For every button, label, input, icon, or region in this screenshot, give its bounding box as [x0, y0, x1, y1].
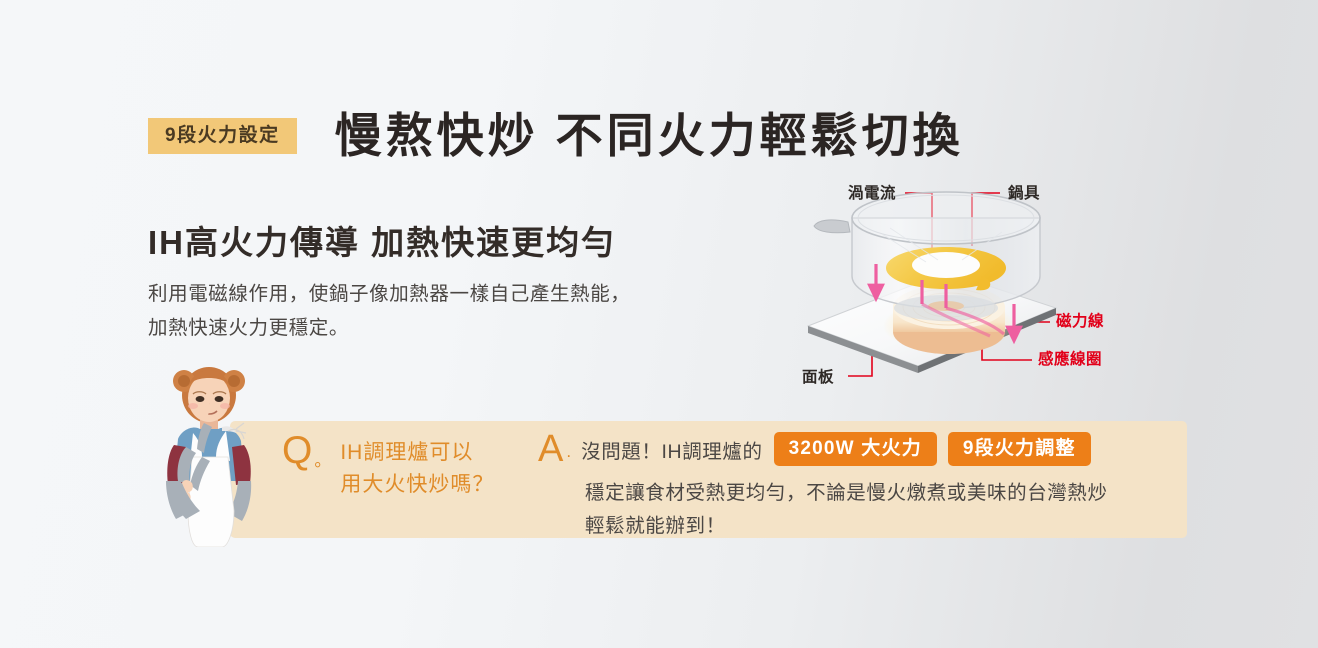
qa-question: Q 。 IH調理爐可以 用大火快炒嗎？ [282, 432, 494, 501]
body-line-1: 利用電磁線作用，使鍋子像加熱器一樣自己產生熱能， [148, 278, 630, 312]
section-body-copy: 利用電磁線作用，使鍋子像加熱器一樣自己產生熱能， 加熱快速火力更穩定。 [148, 278, 630, 345]
question-marker-dot: 。 [314, 432, 331, 471]
segment-badge: 9段火力設定 [148, 118, 297, 154]
svg-text:.: . [786, 176, 790, 180]
question-marker: Q [282, 432, 312, 469]
question-line-2: 用大火快炒嗎？ [340, 469, 494, 501]
chef-svg [148, 361, 270, 547]
body-line-2: 加熱快速火力更穩定。 [148, 312, 630, 346]
answer-marker-dot: . [566, 442, 571, 468]
answer-line-3: 輕鬆就能辦到！ [585, 510, 1178, 543]
diagram-label-magnetic-lines: 磁力線 [1056, 314, 1104, 330]
answer-first-line: A . 沒問題！IH調理爐的 3200W 大火力 9段火力調整 [538, 430, 1178, 468]
qa-answer: A . 沒問題！IH調理爐的 3200W 大火力 9段火力調整 穩定讓食材受熱更… [538, 430, 1178, 543]
answer-body: 穩定讓食材受熱更均勻，不論是慢火燉煮或美味的台灣熱炒 輕鬆就能辦到！ [585, 477, 1178, 543]
answer-lead-text: 沒問題！IH調理爐的 [581, 435, 763, 464]
chef-illustration [148, 361, 270, 547]
answer-marker: A [538, 430, 563, 468]
question-text: IH調理爐可以 用大火快炒嗎？ [340, 432, 494, 501]
feature-pill-power: 3200W 大火力 [774, 432, 937, 466]
diagram-label-cookware: 鍋具 [1008, 186, 1040, 202]
feature-pill-levels: 9段火力調整 [948, 432, 1091, 466]
promo-banner: 9段火力設定 慢熬快炒 不同火力輕鬆切換 IH高火力傳導 加熱快速更均勻 利用電… [0, 0, 1318, 648]
page-title: 慢熬快炒 不同火力輕鬆切換 [335, 112, 964, 159]
headline-row: 9段火力設定 慢熬快炒 不同火力輕鬆切換 [148, 112, 964, 159]
diagram-svg: . [786, 176, 1186, 406]
question-line-1: IH調理爐可以 [340, 437, 494, 469]
answer-line-2: 穩定讓食材受熱更均勻，不論是慢火燉煮或美味的台灣熱炒 [585, 477, 1178, 510]
chef-face [188, 370, 230, 422]
diagram-label-panel: 面板 [802, 370, 834, 386]
section-subheading: IH高火力傳導 加熱快速更均勻 [148, 216, 616, 264]
diagram-label-induction-coil: 感應線圈 [1038, 352, 1102, 368]
induction-heating-diagram: . 渦電流 鍋具 磁力線 感應線圈 面板 [786, 176, 1186, 406]
diagram-label-eddy-current: 渦電流 [848, 186, 896, 202]
